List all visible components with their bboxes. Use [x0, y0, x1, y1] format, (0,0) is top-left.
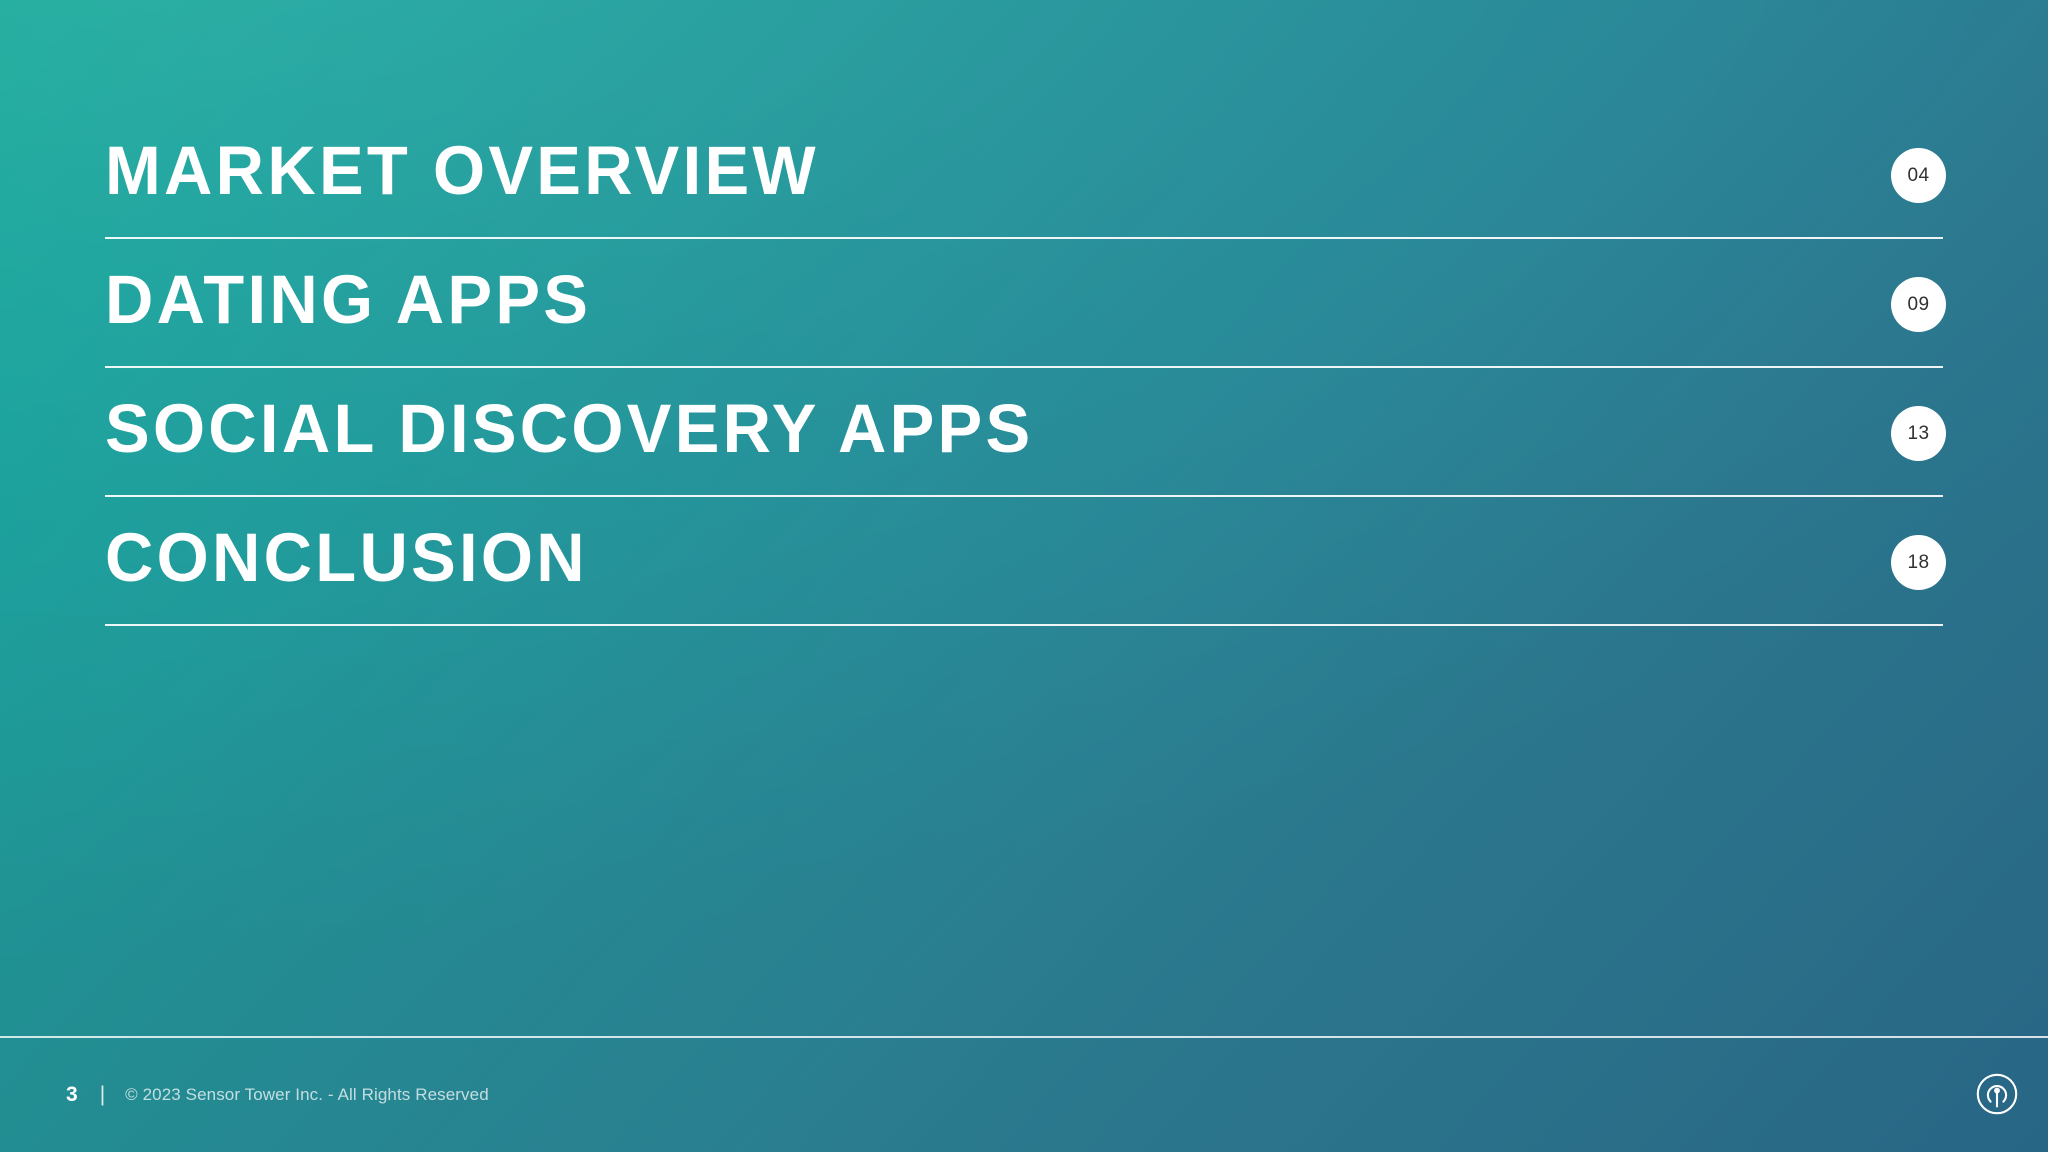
agenda-item-market-overview[interactable]: MARKET OVERVIEW 04 — [105, 110, 1943, 239]
agenda-item-page-number: 04 — [1908, 166, 1930, 185]
agenda-item-conclusion[interactable]: CONCLUSION 18 — [105, 497, 1943, 626]
agenda-item-dating-apps[interactable]: DATING APPS 09 — [105, 239, 1943, 368]
footer-left-group: 3 | © 2023 Sensor Tower Inc. - All Right… — [66, 1036, 489, 1152]
agenda-item-title: MARKET OVERVIEW — [105, 136, 819, 205]
agenda-item-page-number: 18 — [1908, 553, 1930, 572]
agenda-item-page-number: 13 — [1908, 424, 1930, 443]
agenda-item-title: CONCLUSION — [105, 523, 588, 592]
page-number: 3 — [66, 1084, 78, 1105]
agenda-item-page-badge[interactable]: 13 — [1891, 406, 1946, 461]
agenda-item-social-discovery-apps[interactable]: SOCIAL DISCOVERY APPS 13 — [105, 368, 1943, 497]
agenda-item-page-badge[interactable]: 18 — [1891, 535, 1946, 590]
agenda-slide: MARKET OVERVIEW 04 DATING APPS 09 SOCIAL… — [0, 0, 2048, 1152]
footer-separator: | — [100, 1084, 105, 1105]
agenda-item-page-number: 09 — [1908, 295, 1930, 314]
slide-footer: 3 | © 2023 Sensor Tower Inc. - All Right… — [0, 1036, 2048, 1152]
agenda-item-title: SOCIAL DISCOVERY APPS — [105, 394, 1033, 463]
copyright-text: © 2023 Sensor Tower Inc. - All Rights Re… — [125, 1086, 489, 1103]
agenda-item-page-badge[interactable]: 09 — [1891, 277, 1946, 332]
agenda-item-page-badge[interactable]: 04 — [1891, 148, 1946, 203]
agenda-list: MARKET OVERVIEW 04 DATING APPS 09 SOCIAL… — [105, 110, 1943, 626]
agenda-item-title: DATING APPS — [105, 265, 591, 334]
sensor-tower-logo-icon — [1974, 1071, 2020, 1117]
agenda-item-divider — [105, 624, 1943, 626]
